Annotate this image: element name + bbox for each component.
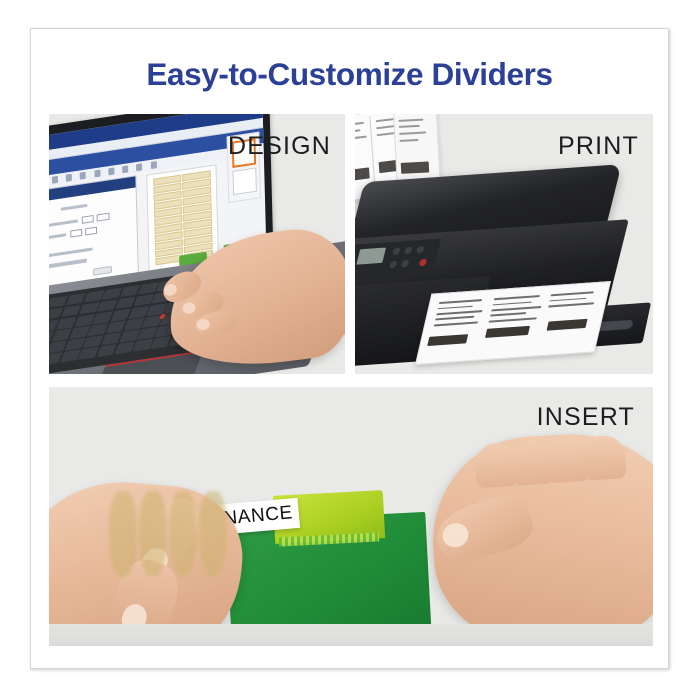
panel-print: PRINT <box>355 114 653 374</box>
printer-button <box>401 260 410 268</box>
panel-label-insert: INSERT <box>537 403 635 432</box>
thumbnail-alt <box>232 167 256 195</box>
printer-button <box>416 246 425 254</box>
fingernail <box>162 282 179 298</box>
printed-divider-sheet <box>415 281 611 365</box>
surface-shadow <box>49 624 653 646</box>
printer-button <box>389 261 398 269</box>
right-hand <box>426 427 653 646</box>
printer-button <box>404 247 413 255</box>
thumb <box>430 489 538 570</box>
printer-lcd-display <box>356 248 386 265</box>
product-info-card: Easy-to-Customize Dividers <box>30 28 669 669</box>
fingernail <box>181 301 197 316</box>
printer-button <box>392 247 401 255</box>
panel-insert: FINANCE <box>49 387 653 646</box>
printer-control-panel <box>355 239 441 280</box>
panel-label-design: DESIGN <box>228 132 331 161</box>
panel-design: DESIGN <box>49 114 345 374</box>
thumbnail-nail <box>439 520 471 551</box>
panel-label-print: PRINT <box>558 132 639 161</box>
printer-power-button <box>419 259 428 267</box>
knuckles <box>474 432 653 492</box>
page-title: Easy-to-Customize Dividers <box>31 56 668 93</box>
fingernail <box>196 318 211 331</box>
fingers-behind-divider <box>109 491 229 583</box>
